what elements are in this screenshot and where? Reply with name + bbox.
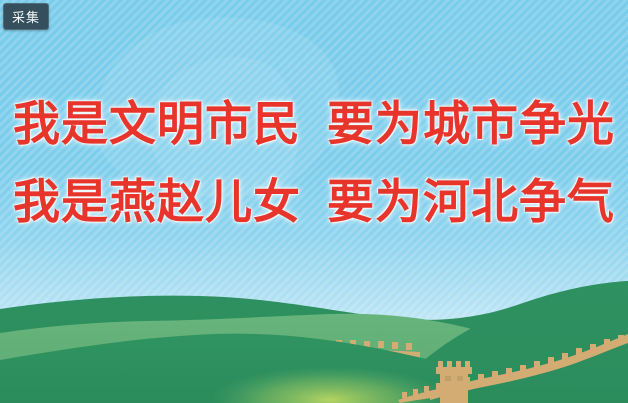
slogan-line-2-right: 要为河北争气 [327,175,615,230]
slogan-line-1-left: 我是文明市民 [13,97,301,152]
slogan-line-2-left: 我是燕赵儿女 [13,175,301,230]
slogan-line-2: 我是燕赵儿女要为河北争气 [0,175,628,231]
slogan-line-1-right: 要为城市争光 [327,97,615,152]
capture-button[interactable]: 采集 [3,3,49,30]
slogan-line-1: 我是文明市民要为城市争光 [0,97,628,153]
banner-image: 我是文明市民要为城市争光 我是燕赵儿女要为河北争气 采集 [0,0,628,403]
